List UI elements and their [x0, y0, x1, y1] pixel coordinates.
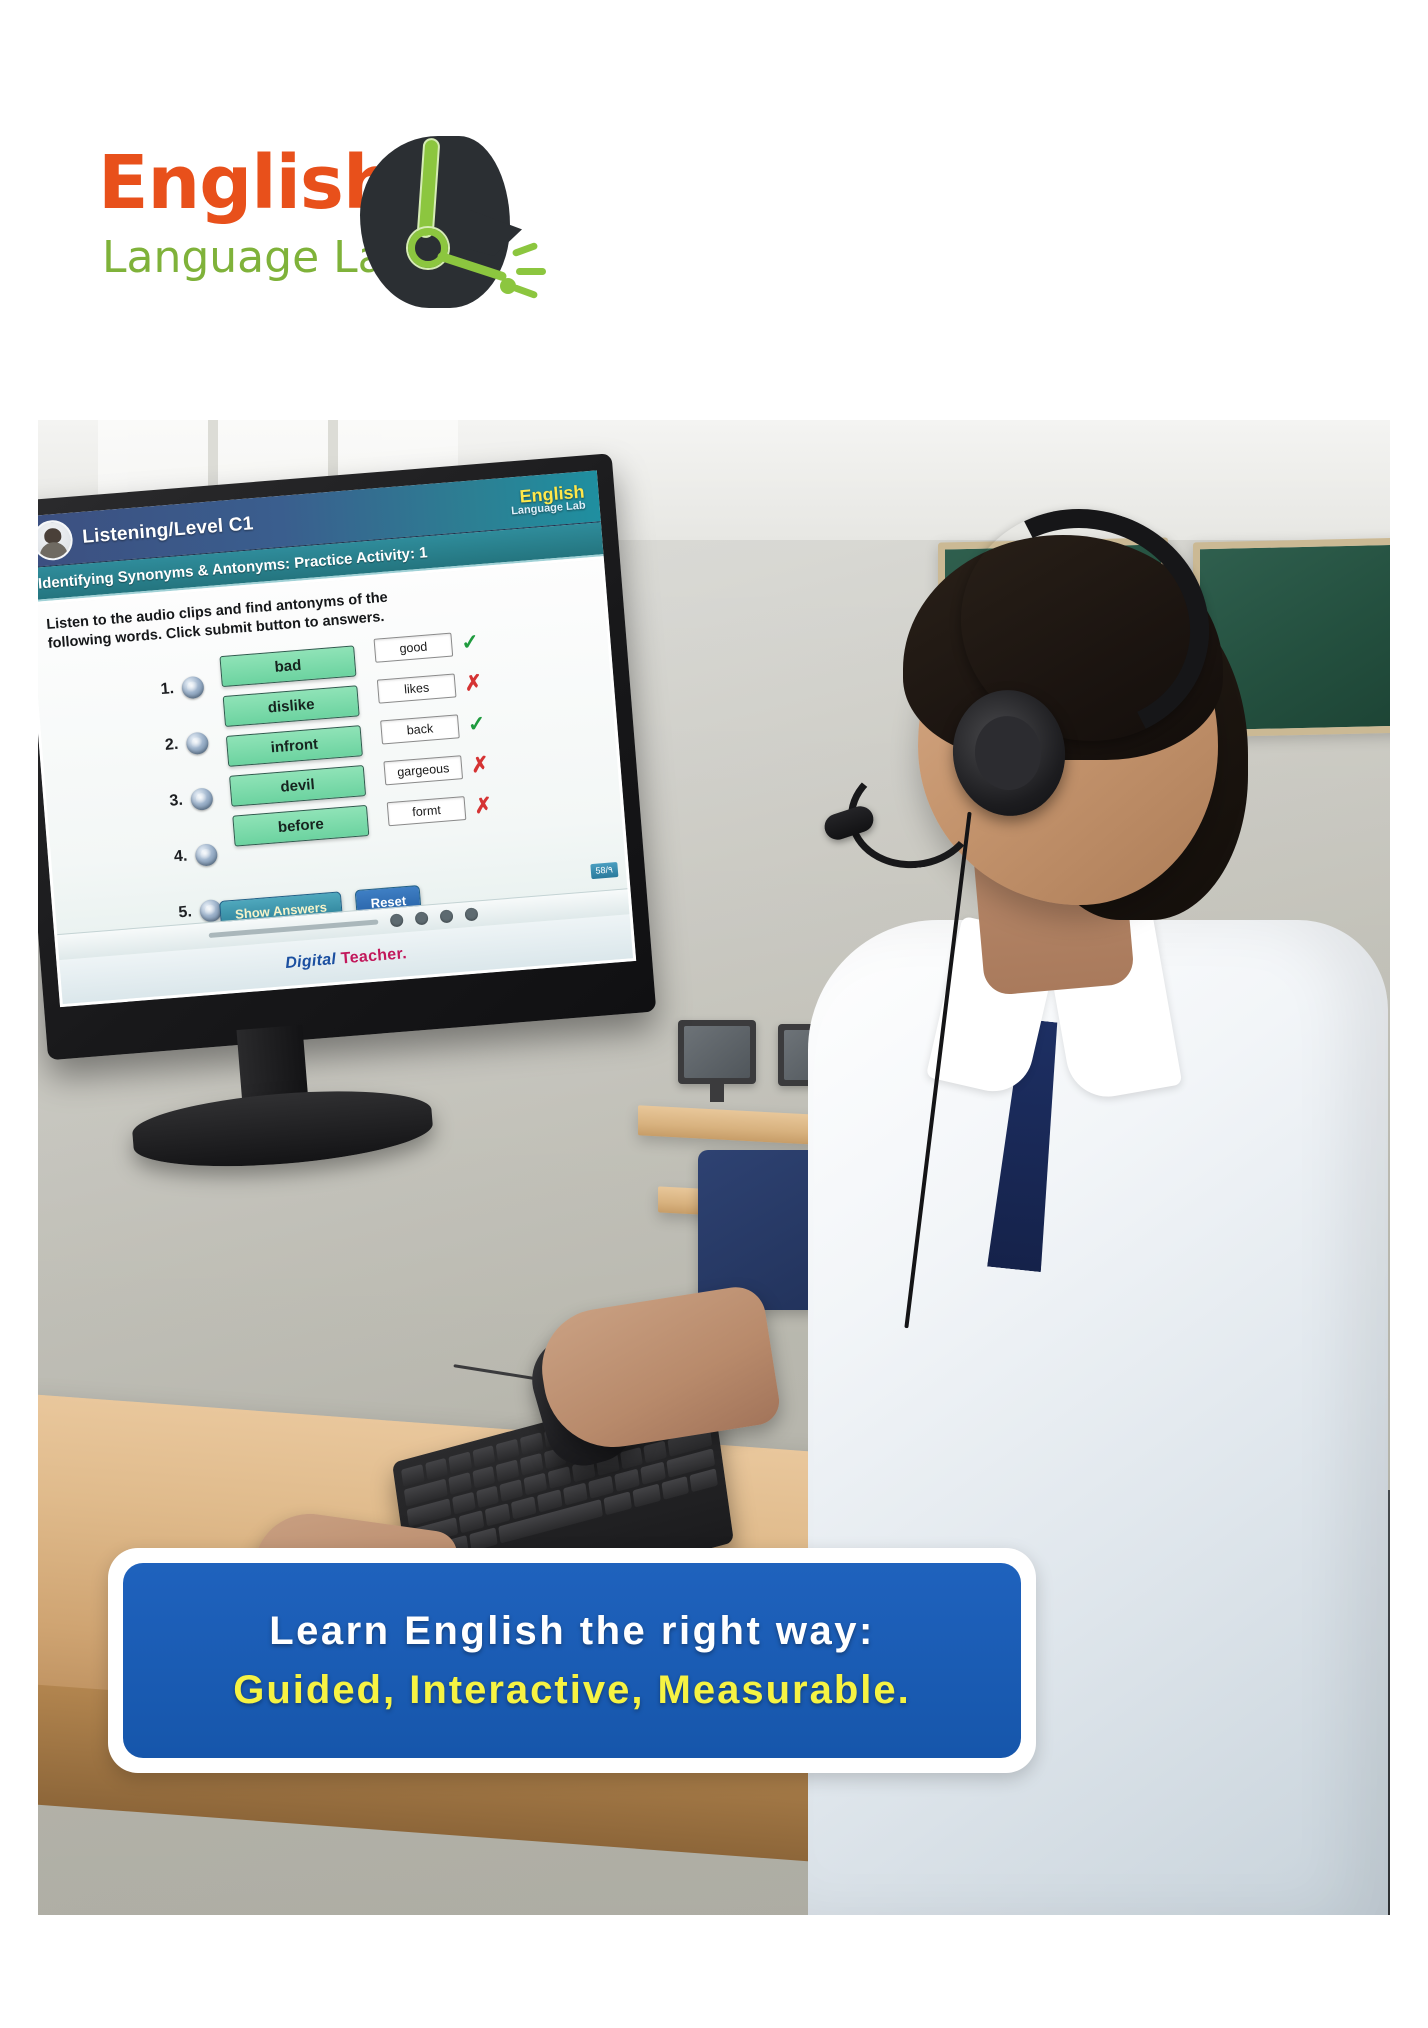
question-number: 3.: [156, 791, 183, 811]
monitor-bezel: Listening/Level C1 English Language Lab …: [38, 453, 656, 1060]
speaker-globe-icon[interactable]: [194, 843, 218, 867]
question-row: 4.: [160, 833, 219, 878]
incorrect-cross-icon: ✗: [471, 793, 495, 820]
lesson-title: Listening/Level C1: [82, 513, 255, 549]
cta-banner-inner: Learn English the right way: Guided, Int…: [123, 1563, 1021, 1758]
answer-input[interactable]: good: [374, 632, 454, 662]
question-answer-area: 1. 2. 3.: [49, 617, 612, 920]
volume-icon[interactable]: [464, 907, 478, 921]
monitor-base: [130, 1082, 435, 1176]
audio-time-label: 58/٩: [590, 862, 618, 879]
computer-monitor: Listening/Level C1 English Language Lab …: [38, 450, 703, 1140]
cta-headline: Learn English the right way:: [269, 1609, 875, 1654]
cta-subheadline: Guided, Interactive, Measurable.: [233, 1668, 911, 1713]
app-screen: Listening/Level C1 English Language Lab …: [38, 470, 636, 1007]
speaker-globe-icon[interactable]: [185, 731, 209, 755]
question-row: 2.: [151, 722, 210, 767]
answer-input[interactable]: back: [380, 714, 460, 744]
pause-icon[interactable]: [415, 911, 429, 925]
question-number-column: 1. 2. 3.: [146, 666, 224, 950]
cta-banner: Learn English the right way: Guided, Int…: [108, 1548, 1036, 1773]
answer-input[interactable]: gargeous: [383, 755, 463, 785]
brand-logo-panel: English Language Lab: [30, 118, 530, 326]
stop-icon[interactable]: [440, 909, 454, 923]
question-number: 4.: [161, 847, 188, 867]
play-icon[interactable]: [390, 913, 404, 927]
app-body: Listen to the audio clips and find anton…: [38, 556, 636, 1007]
question-number: 1.: [147, 680, 174, 700]
answer-row: formt ✗: [387, 793, 496, 827]
correct-check-icon: ✓: [458, 630, 482, 657]
brand-logo-english: English: [98, 146, 395, 220]
word-column: bad dislike infront devil before: [219, 646, 370, 856]
word-box[interactable]: dislike: [223, 686, 360, 728]
word-box[interactable]: before: [232, 805, 369, 847]
answer-row: good ✓: [373, 630, 482, 664]
question-row: 1.: [146, 666, 205, 711]
brand-prefix: Digital: [285, 951, 337, 972]
digital-teacher-logo: Digital Teacher.: [285, 945, 408, 973]
word-box[interactable]: devil: [229, 765, 366, 807]
answer-column: good ✓ likes ✗ back ✓: [373, 630, 496, 843]
question-row: 3.: [155, 778, 214, 823]
answer-input[interactable]: formt: [387, 796, 467, 826]
question-number: 2.: [152, 736, 179, 756]
brand-suffix: Teacher.: [335, 945, 407, 968]
headset-head-icon: [360, 136, 530, 308]
correct-check-icon: ✓: [465, 711, 489, 738]
answer-row: back ✓: [380, 711, 489, 745]
poster-root: Listening/Level C1 English Language Lab …: [0, 0, 1428, 2028]
audio-progress-slider[interactable]: [209, 919, 379, 938]
incorrect-cross-icon: ✗: [468, 752, 492, 779]
incorrect-cross-icon: ✗: [461, 670, 485, 697]
word-box[interactable]: bad: [219, 646, 356, 688]
user-avatar-icon: [38, 518, 74, 561]
app-logo: English Language Lab: [509, 482, 590, 518]
word-box[interactable]: infront: [226, 725, 363, 767]
answer-input[interactable]: likes: [377, 673, 457, 703]
answer-row: likes ✗: [377, 670, 486, 704]
answer-row: gargeous ✗: [383, 752, 492, 786]
speaker-globe-icon[interactable]: [181, 675, 205, 699]
speaker-globe-icon[interactable]: [190, 787, 214, 811]
question-number: 5.: [165, 903, 192, 923]
